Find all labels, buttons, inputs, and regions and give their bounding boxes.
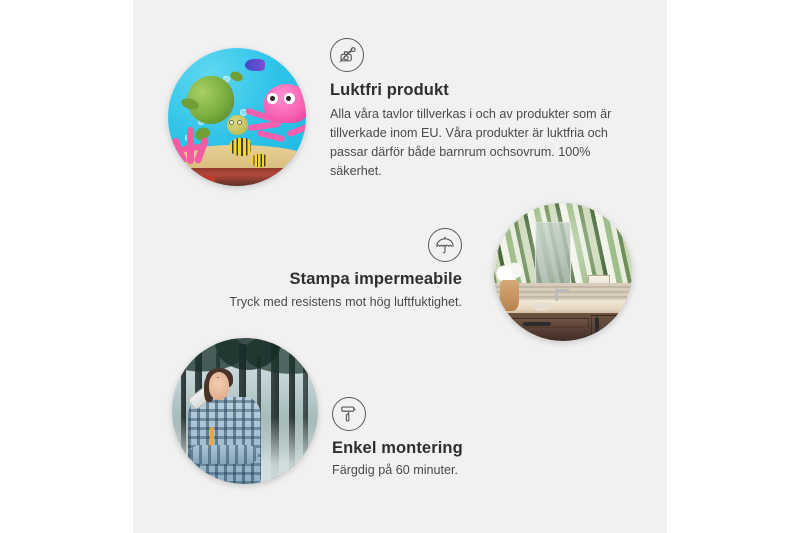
umbrella-icon xyxy=(428,228,462,262)
feature-title: Luktfri produkt xyxy=(330,81,620,100)
vanity-cabinet xyxy=(505,313,632,341)
painter-person xyxy=(184,370,263,484)
mirror xyxy=(535,222,571,285)
yellow-fish-icon xyxy=(251,154,268,166)
feature-body: Alla våra tavlor tillverkas i och av pro… xyxy=(330,105,620,181)
bathroom-vanity-mural-image xyxy=(494,203,632,341)
no-odour-spray-bottle-icon xyxy=(330,38,364,72)
foreground-strip xyxy=(168,168,306,186)
octopus-icon xyxy=(251,84,306,147)
feature-body: Färgdig på 60 minuter. xyxy=(332,461,602,480)
yellow-fish-icon xyxy=(229,138,251,156)
feature-body: Tryck med resistens mot hög luftfuktighe… xyxy=(190,293,462,312)
feature-title: Stampa impermeabile xyxy=(190,270,462,289)
faucet-icon xyxy=(555,289,558,301)
vase xyxy=(500,280,519,310)
feature-waterproof-print: Stampa impermeabile Tryck med resistens … xyxy=(190,228,462,312)
feature-title: Enkel montering xyxy=(332,439,602,458)
painter-in-forest-mural-image xyxy=(172,338,318,484)
promo-graphic: Luktfri produkt Alla våra tavlor tillver… xyxy=(0,0,800,533)
soap-dish xyxy=(533,302,552,310)
feature-odour-free: Luktfri produkt Alla våra tavlor tillver… xyxy=(330,38,620,181)
blue-fish-icon xyxy=(245,59,264,71)
paint-roller-icon xyxy=(332,397,366,431)
underwater-kids-mural-image xyxy=(168,48,306,186)
feature-easy-mounting: Enkel montering Färgdig på 60 minuter. xyxy=(332,397,602,480)
coral-icon xyxy=(174,125,215,164)
